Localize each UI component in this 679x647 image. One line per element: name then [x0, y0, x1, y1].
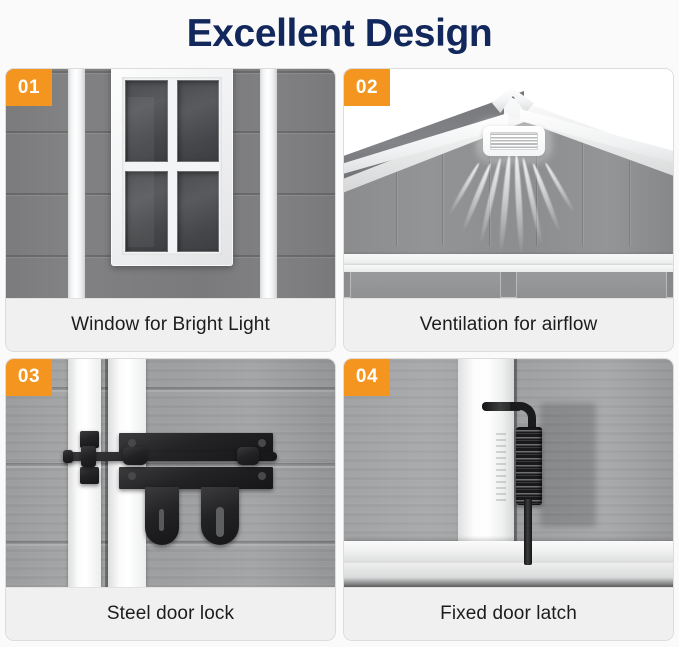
gable-panel-line	[442, 141, 443, 246]
latch-coil-spring	[516, 427, 542, 505]
feature-card-window[interactable]: Window for Bright Light 01	[5, 68, 336, 352]
door-board-seam	[6, 463, 335, 466]
door-board-seam	[6, 387, 335, 390]
feature-card-door-latch[interactable]: Fixed door latch 04	[343, 358, 674, 642]
window-frame	[111, 69, 233, 266]
bolt-collar-left	[81, 446, 96, 467]
feature-caption: Window for Bright Light	[6, 298, 335, 351]
bolt-keeper-lower	[80, 467, 99, 484]
bolt-plate-lower	[119, 467, 273, 489]
feature-number-badge: 01	[6, 69, 52, 106]
window-pane	[177, 171, 220, 253]
feature-number-badge: 04	[344, 359, 390, 396]
door-window-left	[350, 271, 501, 298]
feature-card-door-lock[interactable]: Steel door lock 03	[5, 358, 336, 642]
screw-head	[128, 472, 136, 480]
gable-panel-line	[396, 161, 397, 246]
padlock-slot-right	[216, 507, 224, 537]
bolt-collar-right	[237, 447, 259, 465]
ground-floor	[344, 563, 673, 588]
latch-shadow	[540, 403, 596, 527]
bolt-handle-knob[interactable]	[123, 447, 147, 465]
gable-panel-line	[629, 161, 630, 246]
latch-drop-rod[interactable]	[524, 499, 532, 565]
feature-number-badge: 03	[6, 359, 52, 396]
feature-caption: Fixed door latch	[344, 587, 673, 640]
door-window-right	[516, 271, 667, 298]
product-feature-page: Excellent Design	[0, 0, 679, 647]
screw-head	[258, 439, 266, 447]
vent-louvers	[490, 132, 538, 150]
trim-board-right	[260, 69, 277, 298]
feature-card-grid: Window for Bright Light 01	[5, 68, 674, 641]
bolt-keeper-upper	[80, 431, 99, 448]
feature-caption: Steel door lock	[6, 587, 335, 640]
gable-panel-line	[582, 141, 583, 246]
window-pane	[177, 80, 220, 162]
feature-card-ventilation[interactable]: Ventilation for airflow 02	[343, 68, 674, 352]
door-latch-illustration	[344, 359, 673, 588]
page-title: Excellent Design	[5, 0, 674, 68]
door-top-rail	[344, 265, 673, 272]
window-sash	[122, 77, 222, 255]
ventilation-illustration	[344, 69, 673, 298]
window-illustration	[6, 69, 335, 298]
door-sill	[344, 541, 673, 563]
post-bracket-marks	[496, 433, 506, 505]
shed-gable-scene	[344, 69, 673, 298]
screw-head	[128, 439, 136, 447]
window-pane	[125, 171, 168, 253]
trim-board-left	[68, 69, 85, 298]
feature-number-badge: 02	[344, 69, 390, 106]
window-pane	[125, 80, 168, 162]
feature-caption: Ventilation for airflow	[344, 298, 673, 351]
bolt-end-cap	[63, 450, 73, 463]
door-lock-illustration	[6, 359, 335, 588]
screw-head	[258, 472, 266, 480]
padlock-slot-left	[159, 509, 164, 531]
ventilation-vent	[483, 126, 545, 156]
